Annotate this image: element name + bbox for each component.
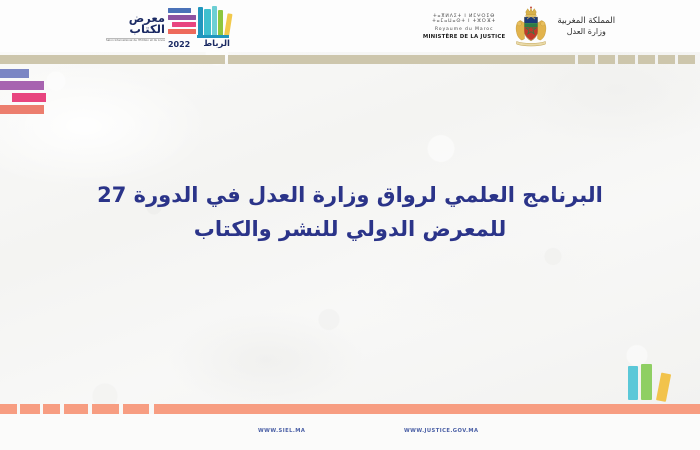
siel-city-year: الرباط 2022 bbox=[168, 39, 230, 49]
tan-segment bbox=[228, 55, 575, 64]
siel-name-line2: الكتاب bbox=[106, 24, 165, 36]
ministry-tifinagh-line2: ⵜⴰⵎⴰⵡⴰⵙⵜ ⵏ ⵜⵣⵔⴼⵜ bbox=[423, 19, 506, 25]
tan-segment bbox=[658, 55, 675, 64]
ministry-of-justice-logo: ⵜⴰⴳⵍⴷⵉⵜ ⵏ ⵍⵎⵖⵔⵉⴱ ⵜⴰⵎⴰⵡⴰⵙⵜ ⵏ ⵜⵣⵔⴼⵜ Royaum… bbox=[398, 5, 640, 49]
siel-book-fair-logo: معرض الكتاب Salon International de l'Edi… bbox=[106, 4, 228, 50]
salmon-segment bbox=[64, 404, 88, 414]
siel-bar-pink bbox=[172, 22, 196, 27]
siel-bar-red bbox=[168, 29, 196, 34]
ministry-arabic-text: المملكة المغربية وزارة العدل bbox=[557, 16, 615, 37]
moroccan-coat-of-arms-icon bbox=[511, 6, 551, 48]
siel-website-url[interactable]: WWW.SIEL.MA bbox=[258, 428, 305, 434]
salmon-segment bbox=[20, 404, 40, 414]
salmon-segment bbox=[0, 404, 17, 414]
accent-bar-purple bbox=[0, 81, 44, 90]
ministry-french-text: ⵜⴰⴳⵍⴷⵉⵜ ⵏ ⵍⵎⵖⵔⵉⴱ ⵜⴰⵎⴰⵡⴰⵙⵜ ⵏ ⵜⵣⵔⴼⵜ Royaum… bbox=[423, 14, 506, 41]
justice-website-url[interactable]: WWW.JUSTICE.GOV.MA bbox=[404, 428, 479, 434]
ministry-french-name: MINISTÈRE DE LA JUSTICE bbox=[423, 34, 506, 41]
siel-bar-purple bbox=[168, 15, 196, 20]
salmon-segment bbox=[123, 404, 149, 414]
salmon-segment bbox=[43, 404, 60, 414]
ministry-arabic-kingdom: المملكة المغربية bbox=[557, 16, 615, 27]
salmon-divider-band bbox=[0, 404, 700, 414]
slide-header: معرض الكتاب Salon International de l'Edi… bbox=[0, 0, 700, 52]
siel-spine-cyan bbox=[204, 9, 211, 36]
ministry-french-kingdom: Royaume du Maroc bbox=[423, 27, 506, 33]
tan-segment bbox=[678, 55, 695, 64]
salmon-segment bbox=[154, 404, 700, 414]
tan-segment bbox=[598, 55, 615, 64]
siel-fine-print: Salon International de l'Edition et du L… bbox=[106, 38, 165, 43]
siel-wordmark: معرض الكتاب Salon International de l'Edi… bbox=[106, 11, 165, 43]
siel-city: الرباط bbox=[203, 39, 230, 49]
siel-spine-yellow bbox=[224, 13, 233, 36]
page-title: البرنامج العلمي لرواق وزارة العدل في الد… bbox=[70, 178, 630, 246]
presentation-slide: معرض الكتاب Salon International de l'Edi… bbox=[0, 0, 700, 450]
book-yellow-tilted bbox=[656, 373, 671, 402]
tan-segment bbox=[0, 55, 225, 64]
siel-baseline bbox=[197, 35, 229, 38]
tan-divider-band bbox=[0, 55, 700, 64]
accent-bar-salmon bbox=[0, 105, 44, 114]
siel-spine-teal bbox=[198, 7, 203, 36]
slide-title-container: البرنامج العلمي لرواق وزارة العدل في الد… bbox=[70, 178, 630, 246]
book-cyan bbox=[628, 366, 638, 400]
tan-segment bbox=[578, 55, 595, 64]
siel-year: 2022 bbox=[168, 40, 190, 49]
siel-logo-mark: الرباط 2022 bbox=[168, 5, 228, 49]
slide-footer: WWW.SIEL.MA WWW.JUSTICE.GOV.MA bbox=[0, 414, 700, 450]
siel-bar-blue bbox=[168, 8, 191, 13]
salmon-segment bbox=[92, 404, 119, 414]
siel-spine-green bbox=[218, 10, 223, 36]
book-green bbox=[641, 364, 652, 400]
siel-spine-aqua bbox=[212, 6, 217, 36]
tan-segment bbox=[618, 55, 635, 64]
ministry-arabic-name: وزارة العدل bbox=[557, 27, 615, 37]
tan-segment bbox=[638, 55, 655, 64]
accent-bar-magenta bbox=[12, 93, 46, 102]
accent-bar-periwinkle bbox=[0, 69, 29, 78]
corner-book-decoration bbox=[624, 360, 682, 400]
